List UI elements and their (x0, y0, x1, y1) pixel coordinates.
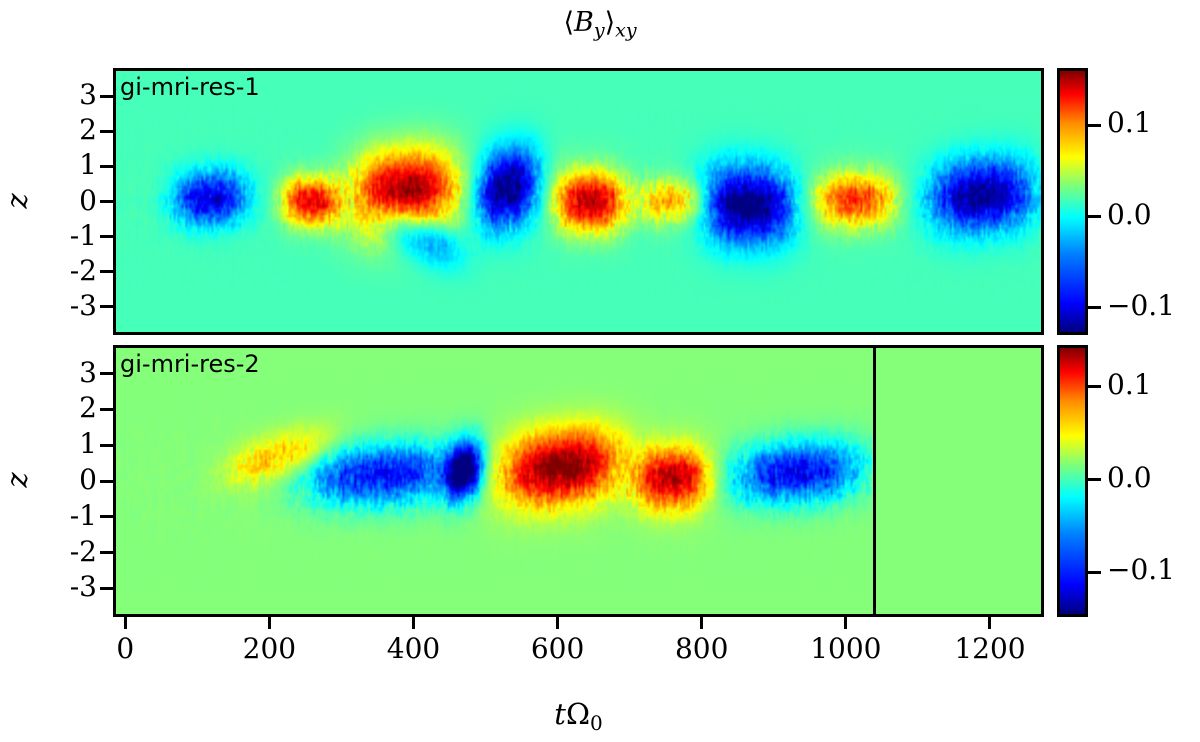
x-tick-label-1: 200 (209, 633, 329, 665)
title-bracket-open: ⟨ (563, 7, 574, 38)
y-tick-1-5 (100, 270, 113, 273)
x-tick-5 (844, 617, 847, 629)
y-tick-1-3 (100, 200, 113, 203)
title-outer-sub: xy (615, 19, 636, 41)
colorbar-tick-label-1-1: 0.0 (1107, 200, 1152, 230)
colorbar-gradient-2 (1060, 348, 1085, 614)
y-tick-2-0 (100, 372, 113, 375)
y-tick-label-1-0: 3 (33, 80, 97, 110)
y-tick-label-2-0: 3 (33, 358, 97, 388)
heatmap-panel-2[interactable]: gi-mri-res-2 (113, 345, 1044, 617)
y-tick-label-1-1: 2 (33, 115, 97, 145)
x-tick-0 (124, 617, 127, 629)
x-tick-label-5: 1000 (786, 633, 906, 665)
colorbar-panel-2 (1057, 345, 1088, 617)
title-symbol: B (574, 7, 594, 38)
x-tick-label-4: 800 (642, 633, 762, 665)
y-tick-label-2-1: 2 (33, 393, 97, 423)
y-axis-label-1: z (0, 181, 34, 221)
x-tick-label-0: 0 (65, 633, 185, 665)
y-tick-label-1-5: -2 (33, 256, 97, 286)
colorbar-panel-1 (1057, 68, 1088, 335)
y-tick-1-1 (100, 130, 113, 133)
heatmap-canvas-1 (116, 71, 1041, 332)
y-tick-1-0 (100, 95, 113, 98)
colorbar-tick-2-1 (1088, 478, 1101, 481)
y-tick-label-2-3: 0 (33, 465, 97, 495)
y-tick-2-5 (100, 551, 113, 554)
colorbar-tick-1-0 (1088, 124, 1101, 127)
x-tick-label-2: 400 (353, 633, 473, 665)
figure-root: ⟨By⟩xy gi-mri-res-1 gi-mri-res-2 z z tΩ0… (0, 0, 1200, 742)
colorbar-tick-2-2 (1088, 571, 1101, 574)
x-tick-2 (412, 617, 415, 629)
data-end-marker-line (873, 348, 876, 614)
colorbar-tick-label-2-0: 0.1 (1107, 370, 1152, 400)
heatmap-panel-1[interactable]: gi-mri-res-1 (113, 68, 1044, 335)
colorbar-tick-1-1 (1088, 215, 1101, 218)
y-tick-1-2 (100, 165, 113, 168)
panel-label-1: gi-mri-res-1 (120, 72, 260, 102)
x-tick-4 (700, 617, 703, 629)
x-axis-label-t: t (554, 697, 566, 731)
y-tick-2-6 (100, 587, 113, 590)
colorbar-tick-label-1-0: 0.1 (1107, 108, 1152, 138)
y-tick-2-1 (100, 408, 113, 411)
y-tick-label-1-4: -1 (33, 221, 97, 251)
colorbar-tick-label-1-2: −0.1 (1107, 291, 1175, 321)
y-tick-1-4 (100, 235, 113, 238)
x-axis-label: tΩ0 (429, 697, 729, 735)
colorbar-gradient-1 (1060, 71, 1085, 332)
y-tick-2-4 (100, 515, 113, 518)
colorbar-tick-2-0 (1088, 385, 1101, 388)
x-tick-6 (988, 617, 991, 629)
figure-title: ⟨By⟩xy (0, 6, 1200, 47)
y-tick-label-2-5: -2 (33, 537, 97, 567)
title-bracket-close: ⟩ (605, 7, 616, 38)
panel-label-2: gi-mri-res-2 (120, 349, 260, 379)
y-tick-label-2-6: -3 (33, 572, 97, 602)
x-tick-3 (556, 617, 559, 629)
colorbar-tick-label-2-2: −0.1 (1107, 555, 1175, 585)
y-axis-label-2: z (0, 460, 34, 500)
x-axis-label-omega: Ω (566, 697, 590, 731)
x-tick-1 (268, 617, 271, 629)
y-tick-label-2-2: 1 (33, 429, 97, 459)
y-tick-label-1-6: -3 (33, 291, 97, 321)
x-tick-label-3: 600 (498, 633, 618, 665)
y-tick-2-2 (100, 444, 113, 447)
colorbar-tick-1-2 (1088, 306, 1101, 309)
x-axis-label-sub: 0 (590, 711, 603, 735)
y-tick-label-2-4: -1 (33, 501, 97, 531)
y-tick-label-1-3: 0 (33, 186, 97, 216)
y-tick-1-6 (100, 305, 113, 308)
x-tick-label-6: 1200 (930, 633, 1050, 665)
heatmap-canvas-2 (116, 348, 1041, 614)
colorbar-tick-label-2-1: 0.0 (1107, 463, 1152, 493)
y-tick-label-1-2: 1 (33, 150, 97, 180)
title-symbol-sub: y (594, 19, 605, 41)
y-tick-2-3 (100, 480, 113, 483)
